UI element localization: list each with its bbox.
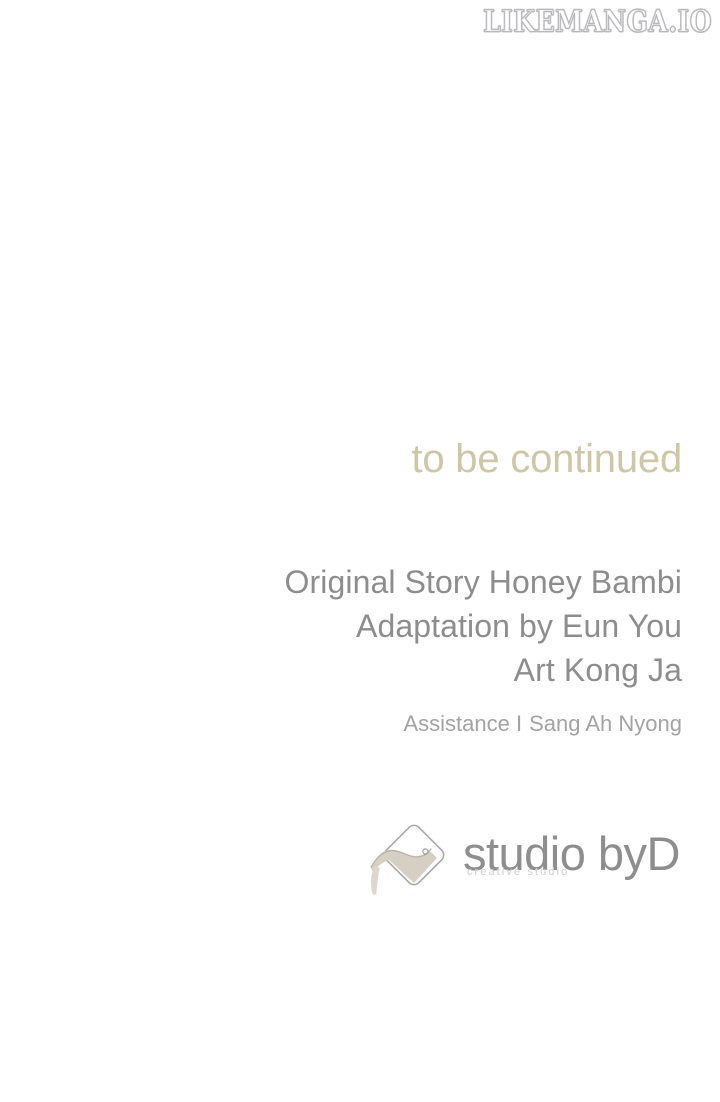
to-be-continued-text: to be continued [411, 437, 682, 482]
studio-wordmark: studio byD creative studio [463, 810, 680, 898]
credit-role: Original Story [285, 564, 480, 600]
credit-line-original-story: Original StoryHoney Bambi [285, 560, 682, 604]
credit-line-adaptation: Adaptation byEun You [285, 604, 682, 648]
credit-name: Eun You [562, 608, 682, 644]
credit-name: Honey Bambi [489, 564, 682, 600]
credits-block: Original StoryHoney Bambi Adaptation byE… [285, 560, 682, 692]
credit-line-art: ArtKong Ja [285, 648, 682, 692]
watermark-label: LIKEMANGA.IO [483, 6, 712, 36]
diamond-pour-logo-icon [369, 810, 457, 898]
studio-logo-block: studio byD creative studio [369, 808, 680, 900]
studio-tagline: creative studio [467, 866, 569, 878]
credit-role: Art [514, 652, 555, 688]
assistance-name: Sang Ah Nyong [529, 711, 682, 736]
credit-name: Kong Ja [564, 652, 682, 688]
comic-end-page: LIKEMANGA.IO to be continued Original St… [0, 0, 720, 1102]
assistance-credit-line: Assistance ISang Ah Nyong [403, 711, 682, 737]
credit-role: Adaptation by [356, 608, 553, 644]
assistance-role: Assistance I [403, 711, 522, 736]
site-watermark: LIKEMANGA.IO [502, 4, 712, 38]
